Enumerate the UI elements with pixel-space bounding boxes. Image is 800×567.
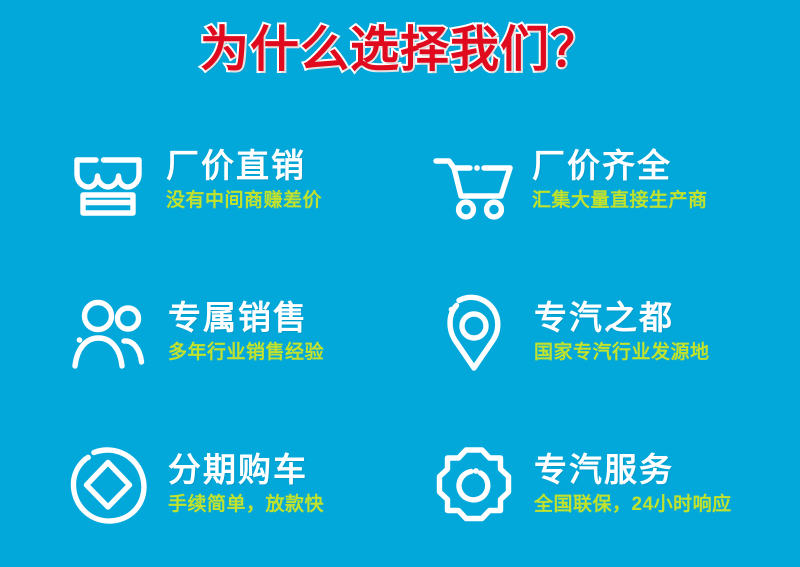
storefront-icon	[66, 138, 150, 222]
feature-item-full-price-range: 厂价齐全 汇集大量直接生产商	[400, 104, 800, 256]
feature-title: 分期购车	[168, 452, 324, 489]
feature-title: 厂价齐全	[532, 148, 708, 185]
shopping-cart-icon	[432, 138, 516, 222]
feature-item-dedicated-sales: 专属销售 多年行业销售经验	[0, 256, 400, 408]
feature-subtitle: 多年行业销售经验	[168, 342, 324, 364]
feature-subtitle: 手续简单，放款快	[168, 494, 324, 516]
two-people-icon	[66, 290, 150, 374]
feature-title: 专汽服务	[534, 452, 732, 489]
feature-text: 分期购车 手续简单，放款快	[168, 452, 324, 516]
feature-text: 专汽之都 国家专汽行业发源地	[534, 300, 710, 364]
feature-subtitle: 国家专汽行业发源地	[534, 342, 710, 364]
feature-text: 厂价直销 没有中间商赚差价	[166, 148, 322, 212]
headline-container: 为什么选择我们？	[0, 0, 800, 86]
feature-subtitle: 汇集大量直接生产商	[532, 190, 708, 212]
location-pin-icon	[432, 290, 516, 374]
feature-subtitle: 没有中间商赚差价	[166, 190, 322, 212]
feature-title: 厂价直销	[166, 148, 322, 185]
promo-banner: 为什么选择我们？	[0, 0, 800, 567]
feature-item-special-vehicle-service: 专汽服务 全国联保，24小时响应	[400, 408, 800, 560]
feature-text: 专汽服务 全国联保，24小时响应	[534, 452, 732, 516]
feature-item-factory-direct-sales: 厂价直销 没有中间商赚差价	[0, 104, 400, 256]
feature-title: 专属销售	[168, 300, 324, 337]
feature-text: 专属销售 多年行业销售经验	[168, 300, 324, 364]
feature-item-installment-purchase: 分期购车 手续简单，放款快	[0, 408, 400, 560]
feature-item-special-vehicle-capital: 专汽之都 国家专汽行业发源地	[400, 256, 800, 408]
circle-diamond-icon	[66, 442, 150, 526]
gear-icon	[432, 442, 516, 526]
feature-title: 专汽之都	[534, 300, 710, 337]
feature-text: 厂价齐全 汇集大量直接生产商	[532, 148, 708, 212]
feature-grid: 厂价直销 没有中间商赚差价	[0, 104, 800, 544]
feature-subtitle: 全国联保，24小时响应	[534, 494, 732, 516]
page-title: 为什么选择我们？	[200, 24, 600, 77]
